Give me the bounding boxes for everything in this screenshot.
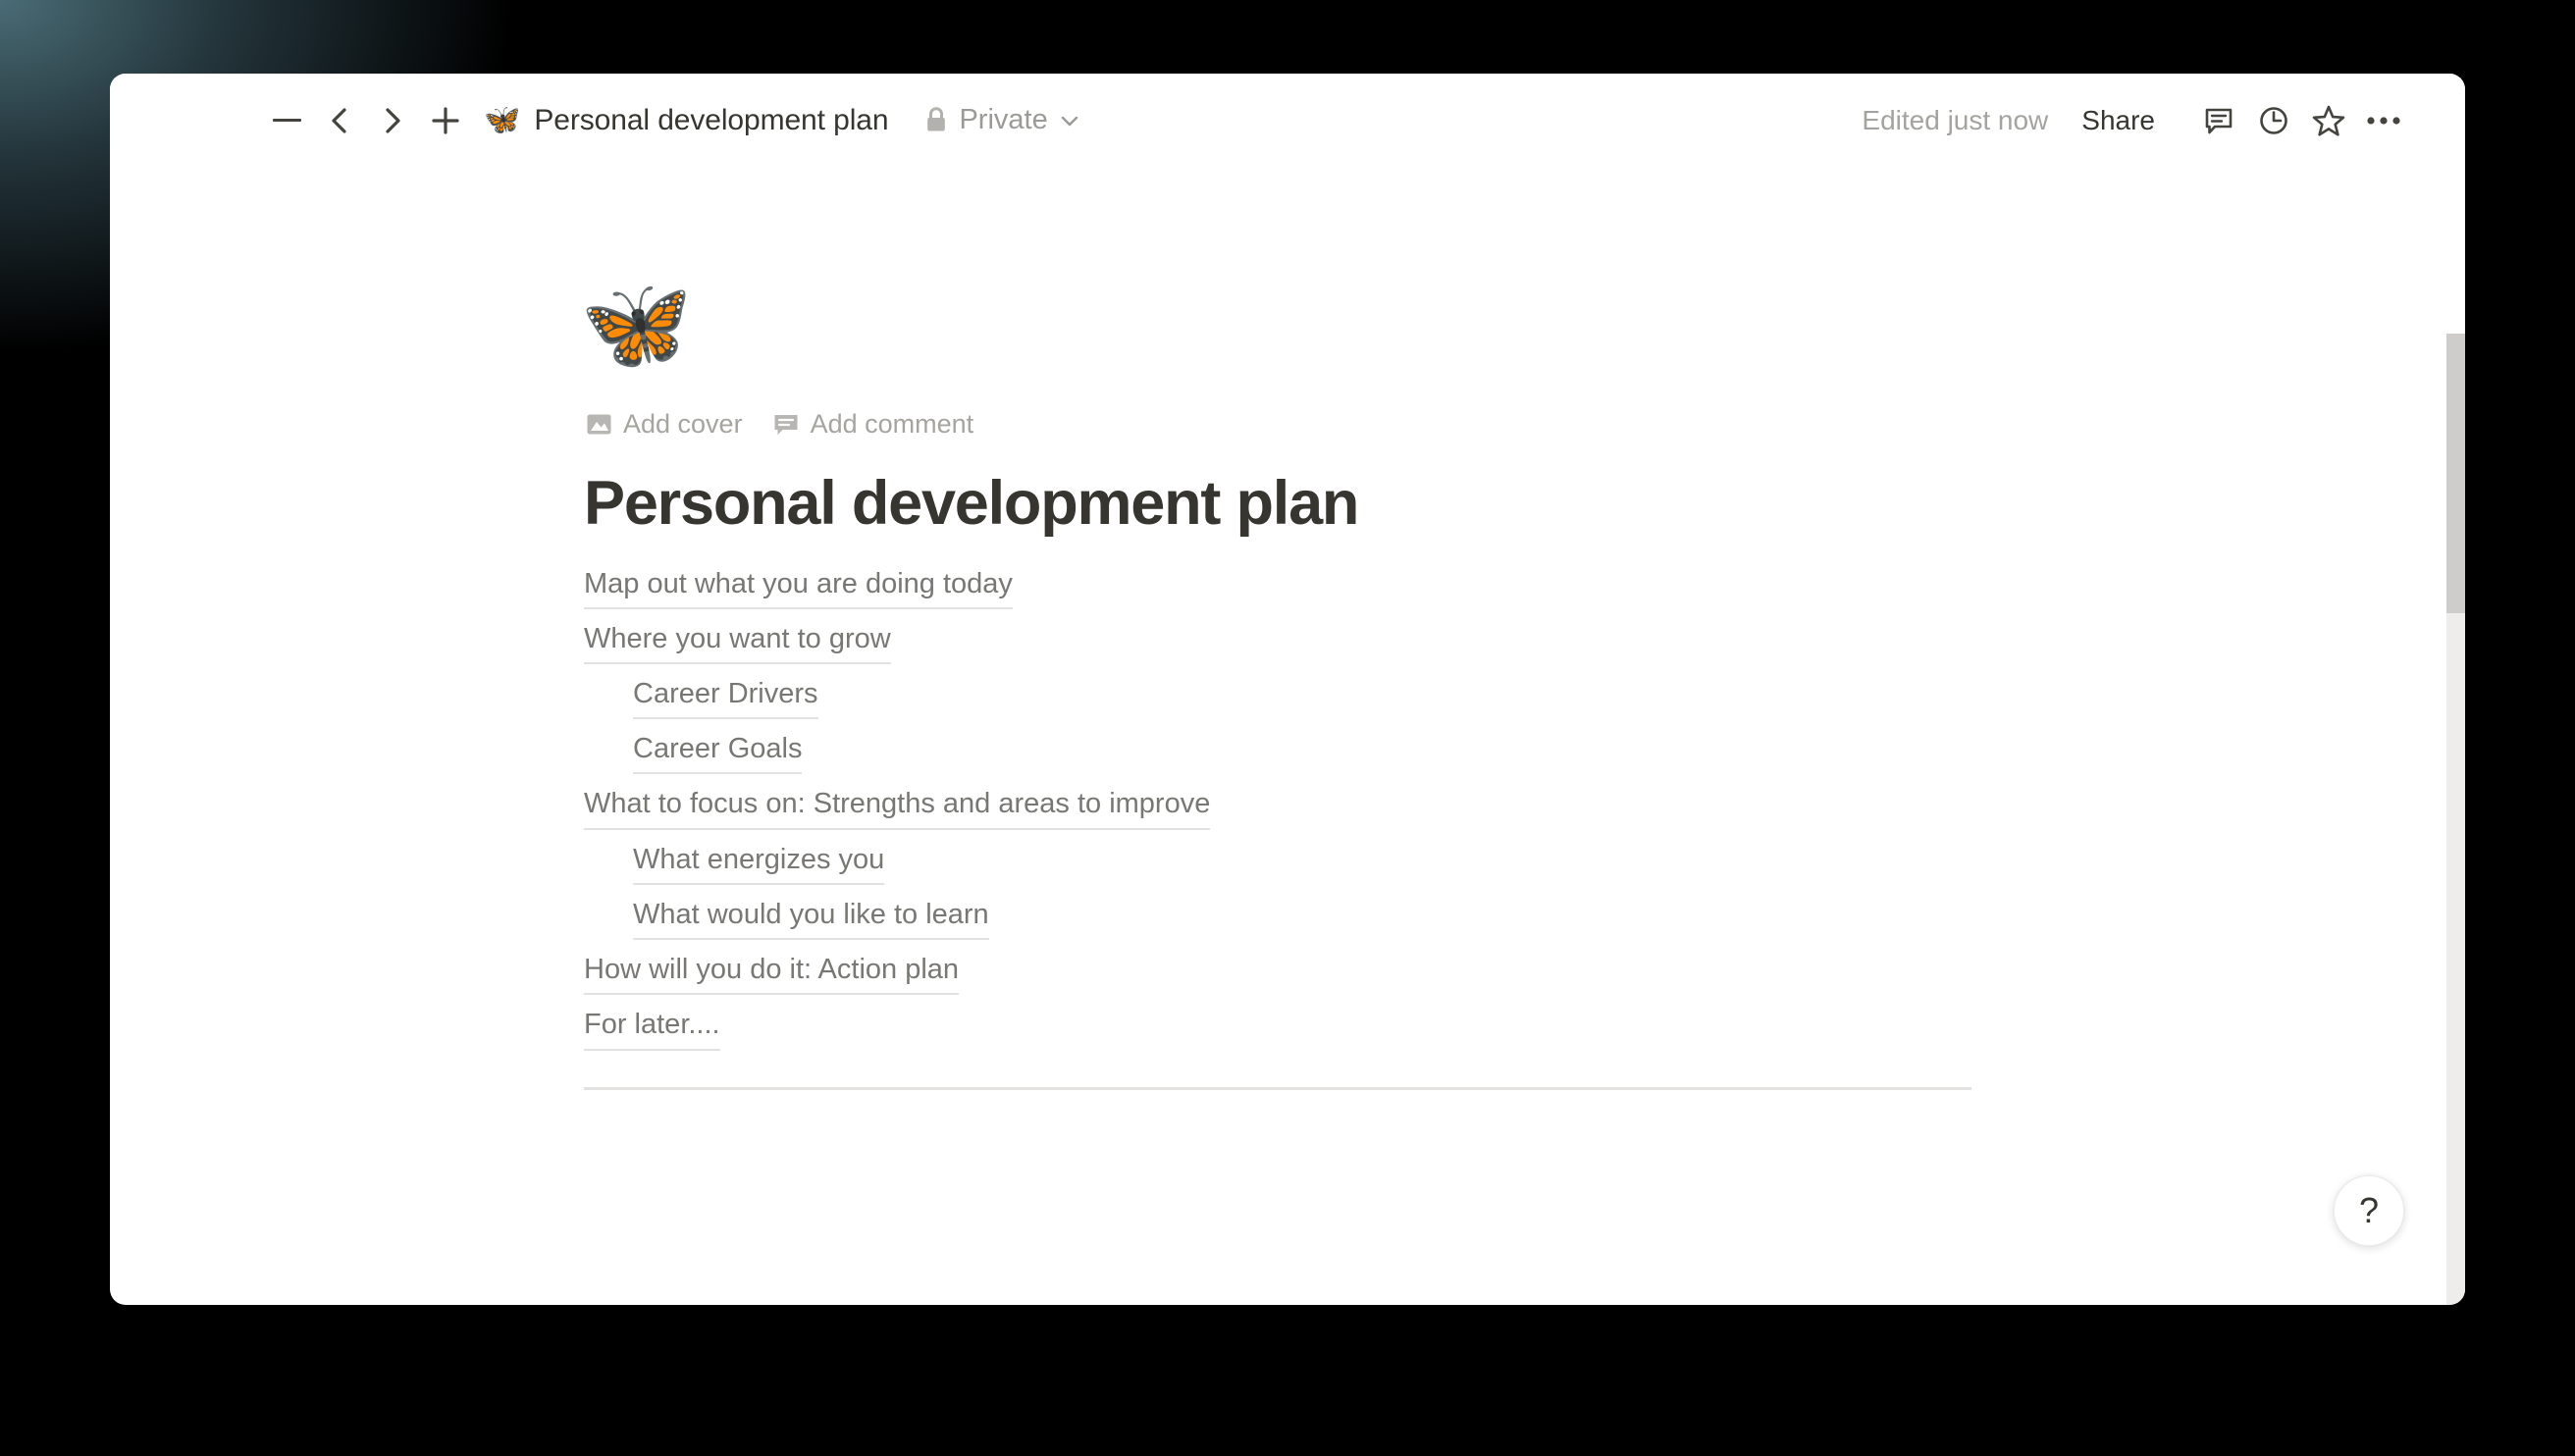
butterfly-icon: 🦋 bbox=[484, 106, 520, 135]
add-comment-button[interactable]: Add comment bbox=[772, 409, 974, 440]
add-cover-label: Add cover bbox=[623, 409, 743, 440]
star-icon[interactable] bbox=[2304, 96, 2353, 145]
chevron-left-icon[interactable] bbox=[317, 98, 362, 143]
chevron-right-glyph bbox=[380, 106, 405, 135]
list-item: What to focus on: Strengths and areas to… bbox=[584, 787, 1987, 829]
page-link[interactable]: For later.... bbox=[584, 1008, 720, 1050]
chevron-down-icon bbox=[1059, 110, 1080, 131]
list-item: For later.... bbox=[584, 1008, 1987, 1050]
comment-icon[interactable] bbox=[2194, 96, 2243, 145]
comment-icon bbox=[772, 411, 800, 439]
add-comment-label: Add comment bbox=[811, 409, 974, 440]
list-item: How will you do it: Action plan bbox=[584, 953, 1987, 995]
hamburger-menu-icon[interactable] bbox=[264, 98, 309, 143]
page-link-list: Map out what you are doing today Where y… bbox=[584, 567, 1987, 1051]
scrollbar-track-lower[interactable] bbox=[2446, 613, 2465, 1305]
privacy-selector[interactable]: Private bbox=[924, 104, 1079, 136]
lock-icon bbox=[924, 106, 948, 134]
clock-icon[interactable] bbox=[2249, 96, 2298, 145]
breadcrumb[interactable]: 🦋 Personal development plan bbox=[484, 104, 888, 137]
edited-status: Edited just now bbox=[1862, 105, 2048, 136]
plus-icon[interactable] bbox=[423, 98, 468, 143]
page-title[interactable]: Personal development plan bbox=[584, 469, 1987, 539]
list-item: Where you want to grow bbox=[584, 622, 1987, 664]
page-link[interactable]: What to focus on: Strengths and areas to… bbox=[584, 787, 1210, 829]
question-mark-icon: ? bbox=[2359, 1190, 2379, 1231]
page-action-bar: Add cover Add comment bbox=[586, 409, 1987, 440]
page-body: 🦋 Add cover bbox=[110, 167, 2465, 1305]
clock-glyph bbox=[2257, 104, 2290, 137]
top-bar-right-group: Edited just now Share bbox=[1862, 96, 2465, 145]
list-item: Career Goals bbox=[584, 732, 1987, 774]
more-horizontal-icon[interactable] bbox=[2359, 96, 2408, 145]
more-dots-glyph bbox=[2365, 111, 2402, 130]
help-button[interactable]: ? bbox=[2334, 1175, 2404, 1246]
desktop-backdrop: 🦋 Personal development plan Private Edit… bbox=[0, 0, 2575, 1456]
page-link[interactable]: What energizes you bbox=[633, 843, 884, 885]
star-glyph bbox=[2311, 103, 2346, 138]
scrollbar[interactable] bbox=[2446, 260, 2465, 1305]
top-bar: 🦋 Personal development plan Private Edit… bbox=[110, 74, 2465, 167]
page-link[interactable]: Career Goals bbox=[633, 732, 802, 774]
page-content: 🦋 Add cover bbox=[584, 167, 1987, 1090]
image-icon bbox=[586, 411, 612, 438]
page-link[interactable]: Where you want to grow bbox=[584, 622, 891, 664]
privacy-label: Private bbox=[959, 104, 1047, 136]
chevron-left-glyph bbox=[327, 106, 352, 135]
page-link[interactable]: Map out what you are doing today bbox=[584, 567, 1013, 609]
list-item: What energizes you bbox=[584, 843, 1987, 885]
content-divider bbox=[584, 1087, 1971, 1090]
page-link[interactable]: What would you like to learn bbox=[633, 898, 989, 940]
breadcrumb-title: Personal development plan bbox=[534, 104, 888, 137]
page-link[interactable]: How will you do it: Action plan bbox=[584, 953, 959, 995]
top-bar-left-group: 🦋 Personal development plan Private bbox=[110, 98, 1080, 143]
comment-glyph bbox=[2202, 104, 2235, 137]
list-item: What would you like to learn bbox=[584, 898, 1987, 940]
app-window: 🦋 Personal development plan Private Edit… bbox=[110, 74, 2465, 1305]
plus-glyph bbox=[431, 106, 460, 135]
chevron-right-icon[interactable] bbox=[370, 98, 415, 143]
page-butterfly-icon[interactable]: 🦋 bbox=[580, 280, 678, 370]
list-item: Map out what you are doing today bbox=[584, 567, 1987, 609]
add-cover-button[interactable]: Add cover bbox=[586, 409, 743, 440]
hamburger-bars bbox=[273, 119, 301, 122]
page-link[interactable]: Career Drivers bbox=[633, 677, 818, 719]
list-item: Career Drivers bbox=[584, 677, 1987, 719]
share-button[interactable]: Share bbox=[2081, 105, 2155, 136]
scrollbar-thumb[interactable] bbox=[2446, 334, 2465, 613]
